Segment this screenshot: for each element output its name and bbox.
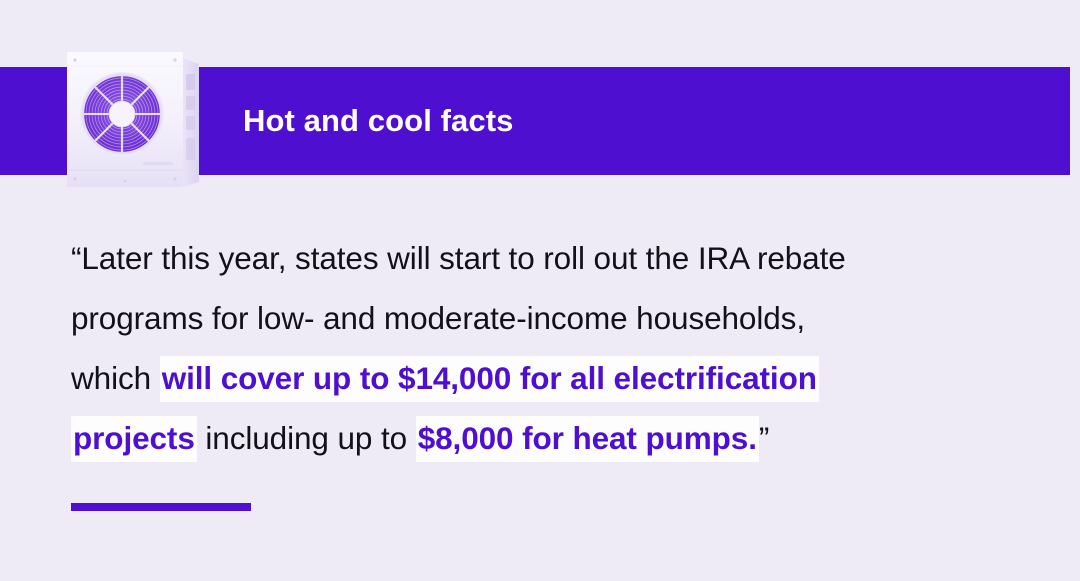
air-conditioner-icon: [65, 50, 215, 190]
quote-line-1: “Later this year, states will start to r…: [71, 228, 1011, 288]
quote-segment: “Later this year, states will start to r…: [71, 240, 846, 276]
quote-line-3: which will cover up to $14,000 for all e…: [71, 348, 1011, 408]
footer-rule: [71, 503, 251, 511]
quote-highlight: will cover up to $14,000 for all electri…: [160, 356, 819, 402]
quote-highlight: $8,000 for heat pumps.: [416, 416, 759, 462]
page-title: Hot and cool facts: [243, 67, 514, 175]
quote-block: “Later this year, states will start to r…: [71, 228, 1011, 468]
quote-segment: programs for low- and moderate-income ho…: [71, 300, 805, 336]
quote-highlight: projects: [71, 416, 197, 462]
quote-line-4: projects including up to $8,000 for heat…: [71, 408, 1011, 468]
closing-quote-mark: ”: [759, 420, 769, 456]
poster-canvas: Hot and cool facts “Later this year, sta…: [0, 0, 1080, 581]
quote-line-2: programs for low- and moderate-income ho…: [71, 288, 1011, 348]
quote-segment: including up to: [197, 420, 416, 456]
quote-segment: which: [71, 360, 160, 396]
